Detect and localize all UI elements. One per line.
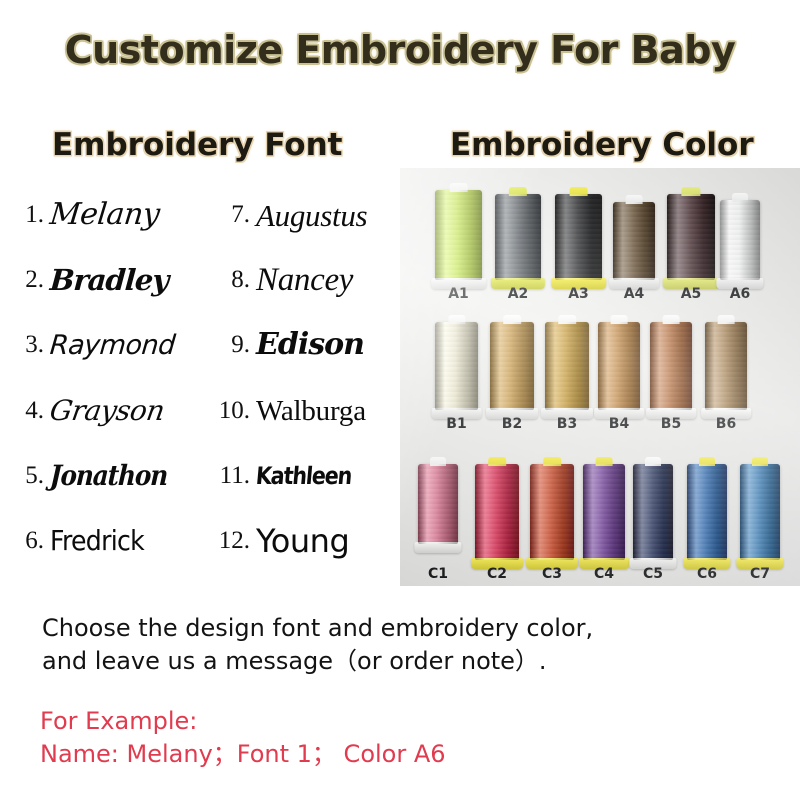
spool-cap	[681, 187, 700, 196]
spool-thread-body	[705, 322, 747, 410]
font-option-1[interactable]: 1. Melany	[4, 183, 203, 247]
font-option-number: 4.	[4, 397, 50, 425]
thread-spool-c1[interactable]	[418, 464, 458, 544]
thread-spool-b5[interactable]	[650, 322, 692, 410]
thread-color-label-a2: A2	[489, 286, 547, 302]
embroidery-color-heading: Embroidery Color	[450, 127, 754, 163]
font-option-6[interactable]: 6. Fredrick	[4, 509, 203, 573]
spool-thread-body	[687, 464, 727, 560]
thread-row-a: A1A2A3A4A5A6	[400, 172, 800, 302]
spool-thread-body	[583, 464, 625, 560]
spool-cap	[626, 195, 643, 204]
font-option-5[interactable]: 5. Jonathon	[4, 444, 203, 508]
thread-spool-a4[interactable]	[613, 202, 655, 280]
spool-thread-body	[490, 322, 534, 410]
font-option-name: Fredrick	[50, 527, 144, 555]
embroidery-font-heading: Embroidery Font	[52, 127, 343, 163]
font-option-number: 6.	[4, 527, 50, 555]
font-option-number: 7.	[200, 201, 256, 229]
spool-thread-body	[555, 194, 602, 280]
font-list-column-2: 7. Augustus 8. Nancey 9. Edison 10. Walb…	[200, 183, 399, 583]
font-option-2[interactable]: 2. Bradley	[4, 248, 203, 312]
spool-thread-body	[667, 194, 715, 280]
font-option-4[interactable]: 4. Grayson	[4, 379, 203, 443]
spool-cap	[430, 457, 446, 466]
font-option-number: 9.	[200, 331, 256, 359]
thread-color-label-c4: C4	[577, 566, 631, 582]
example-line-1: For Example:	[40, 705, 760, 738]
font-option-12[interactable]: 12. Young	[200, 509, 399, 573]
thread-row-c: C1C2C3C4C5C6C7	[400, 434, 800, 582]
thread-spool-c3[interactable]	[530, 464, 574, 560]
spool-cap	[509, 187, 527, 196]
thread-color-label-b2: B2	[484, 416, 540, 432]
thread-color-label-c3: C3	[524, 566, 580, 582]
thread-spool-a6[interactable]	[720, 200, 760, 280]
thread-spool-b4[interactable]	[598, 322, 640, 410]
spool-cap	[596, 457, 613, 466]
thread-color-label-a6: A6	[714, 286, 766, 302]
page-title: Customize Embroidery For Baby	[0, 28, 800, 72]
thread-spool-b6[interactable]	[705, 322, 747, 410]
font-option-number: 1.	[4, 201, 50, 229]
font-option-number: 5.	[4, 462, 50, 490]
font-option-3[interactable]: 3. Raymond	[4, 313, 203, 377]
font-option-name: Grayson	[48, 397, 166, 425]
spool-thread-body	[740, 464, 780, 560]
font-list: 1. Melany 2. Bradley 3. Raymond 4. Grays…	[0, 183, 398, 583]
instructions-text: Choose the design font and embroidery co…	[42, 612, 762, 678]
spool-thread-body	[613, 202, 655, 280]
spool-cap	[718, 315, 735, 324]
font-option-9[interactable]: 9. Edison	[200, 313, 399, 377]
font-option-name: Jonathon	[49, 462, 168, 490]
spool-base	[414, 542, 461, 553]
spool-thread-body	[530, 464, 574, 560]
spool-thread-body	[435, 190, 482, 280]
font-option-10[interactable]: 10. Walburga	[200, 379, 399, 443]
thread-spool-a3[interactable]	[555, 194, 602, 280]
thread-spool-c7[interactable]	[740, 464, 780, 560]
font-option-number: 11.	[200, 462, 256, 490]
thread-spool-a5[interactable]	[667, 194, 715, 280]
spool-thread-body	[720, 200, 760, 280]
spool-thread-body	[633, 464, 673, 560]
thread-spool-b3[interactable]	[545, 322, 589, 410]
font-option-number: 3.	[4, 331, 50, 359]
spool-cap	[699, 457, 715, 466]
spool-cap	[503, 315, 521, 324]
thread-color-label-c1: C1	[412, 566, 464, 582]
thread-color-label-c7: C7	[734, 566, 786, 582]
spool-cap	[448, 315, 465, 324]
thread-color-chart-photo: A1A2A3A4A5A6 B1B2B3B4B5B6 C1C2C3C4C5C6C7	[400, 168, 800, 586]
font-option-number: 10.	[200, 397, 256, 425]
example-line-2: Name: Melany；Font 1； Color A6	[40, 738, 760, 771]
font-option-8[interactable]: 8. Nancey	[200, 248, 399, 312]
spool-thread-body	[418, 464, 458, 544]
spool-cap	[543, 457, 561, 466]
thread-color-label-c5: C5	[627, 566, 679, 582]
thread-spool-c6[interactable]	[687, 464, 727, 560]
font-option-name: Melany	[48, 200, 160, 230]
font-option-name: Raymond	[49, 332, 176, 359]
font-option-name: Walburga	[256, 397, 366, 426]
font-option-name: Nancey	[256, 264, 353, 297]
font-option-number: 8.	[200, 266, 256, 294]
thread-color-label-a5: A5	[661, 286, 721, 302]
font-option-name: Young	[256, 525, 349, 557]
thread-color-label-a3: A3	[549, 286, 608, 302]
thread-spool-b1[interactable]	[435, 322, 478, 410]
spool-cap	[645, 457, 661, 466]
instructions-line-2: and leave us a message（or order note）.	[42, 645, 762, 678]
thread-color-label-b5: B5	[644, 416, 698, 432]
spool-thread-body	[545, 322, 589, 410]
thread-color-label-a4: A4	[607, 286, 661, 302]
font-option-name: Augustus	[256, 200, 367, 231]
spool-cap	[488, 457, 506, 466]
font-option-name: Kathleen	[255, 464, 352, 488]
thread-color-label-c2: C2	[469, 566, 525, 582]
example-text: For Example: Name: Melany；Font 1； Color …	[40, 705, 760, 771]
thread-color-label-a1: A1	[429, 286, 488, 302]
font-option-11[interactable]: 11. Kathleen	[200, 444, 399, 508]
spool-thread-body	[495, 194, 541, 280]
spool-cap	[558, 315, 576, 324]
font-option-name: Bradley	[49, 266, 169, 295]
thread-color-label-c6: C6	[681, 566, 733, 582]
spool-thread-body	[598, 322, 640, 410]
thread-spool-c5[interactable]	[633, 464, 673, 560]
thread-spool-c2[interactable]	[475, 464, 519, 560]
font-option-name: Edison	[256, 330, 364, 360]
font-option-number: 2.	[4, 266, 50, 294]
thread-spool-a1[interactable]	[435, 190, 482, 280]
spool-thread-body	[475, 464, 519, 560]
font-option-number: 12.	[200, 527, 256, 555]
spool-cap	[732, 193, 748, 202]
spool-cap	[752, 457, 768, 466]
instructions-line-1: Choose the design font and embroidery co…	[42, 612, 762, 645]
thread-color-label-b4: B4	[592, 416, 646, 432]
spool-thread-body	[650, 322, 692, 410]
thread-color-label-b3: B3	[539, 416, 595, 432]
thread-color-label-b6: B6	[699, 416, 753, 432]
thread-color-label-b1: B1	[429, 416, 484, 432]
font-option-7[interactable]: 7. Augustus	[200, 183, 399, 247]
spool-cap	[611, 315, 628, 324]
thread-row-b: B1B2B3B4B5B6	[400, 304, 800, 432]
font-list-column-1: 1. Melany 2. Bradley 3. Raymond 4. Grays…	[4, 183, 203, 583]
spool-cap	[569, 187, 588, 196]
thread-spool-c4[interactable]	[583, 464, 625, 560]
thread-spool-a2[interactable]	[495, 194, 541, 280]
spool-cap	[663, 315, 680, 324]
spool-cap	[449, 183, 468, 192]
thread-spool-b2[interactable]	[490, 322, 534, 410]
spool-thread-body	[435, 322, 478, 410]
